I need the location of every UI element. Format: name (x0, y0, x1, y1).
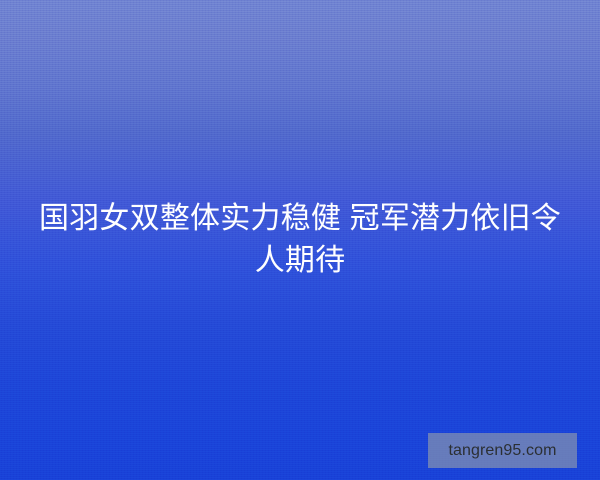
image-canvas: 国羽女双整体实力稳健 冠军潜力依旧令人期待 tangren95.com (0, 0, 600, 480)
watermark-badge: tangren95.com (428, 433, 577, 468)
watermark-text: tangren95.com (448, 443, 556, 459)
headline-title: 国羽女双整体实力稳健 冠军潜力依旧令人期待 (0, 198, 600, 282)
